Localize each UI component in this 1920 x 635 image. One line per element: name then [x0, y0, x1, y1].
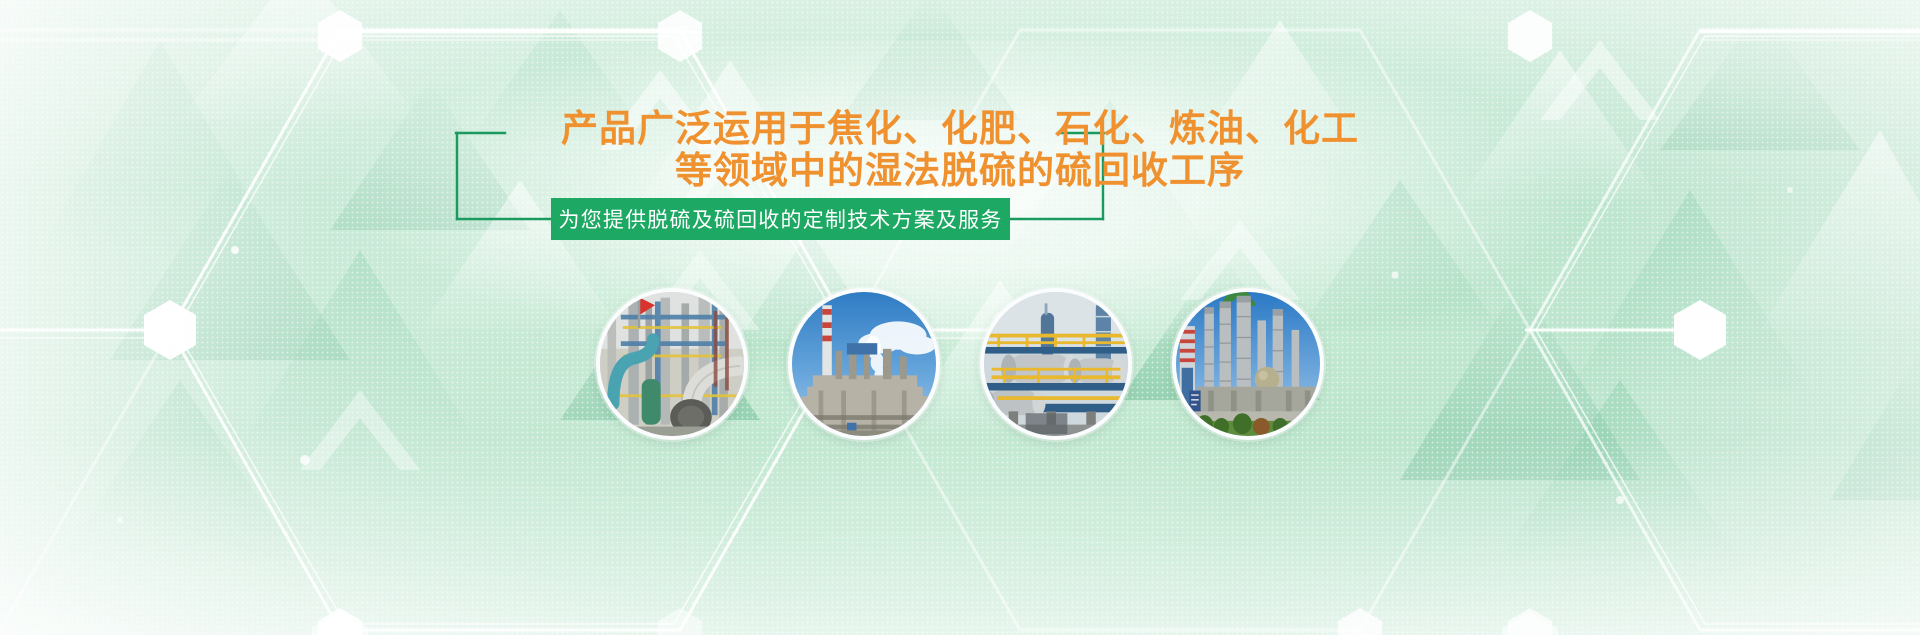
subtitle-banner: 为您提供脱硫及硫回收的定制技术方案及服务 — [551, 198, 1010, 240]
photo-plant-chimney[interactable] — [788, 288, 940, 440]
headline-line-2: 等领域中的湿法脱硫的硫回收工序 — [0, 150, 1920, 192]
photo-plant-piping[interactable] — [596, 288, 748, 440]
headline-line-1: 产品广泛运用于焦化、化肥、石化、炼油、化工 — [0, 108, 1920, 150]
headline: 产品广泛运用于焦化、化肥、石化、炼油、化工 等领域中的湿法脱硫的硫回收工序 — [0, 108, 1920, 192]
subtitle-banner-text: 为您提供脱硫及硫回收的定制技术方案及服务 — [559, 204, 1003, 234]
hero-banner: 产品广泛运用于焦化、化肥、石化、炼油、化工 等领域中的湿法脱硫的硫回收工序 为您… — [0, 0, 1920, 635]
photo-gallery — [0, 288, 1920, 448]
photo-refinery-towers[interactable] — [1172, 288, 1324, 440]
photo-plant-vessels[interactable] — [980, 288, 1132, 440]
background-fade-bottom — [0, 435, 1920, 635]
